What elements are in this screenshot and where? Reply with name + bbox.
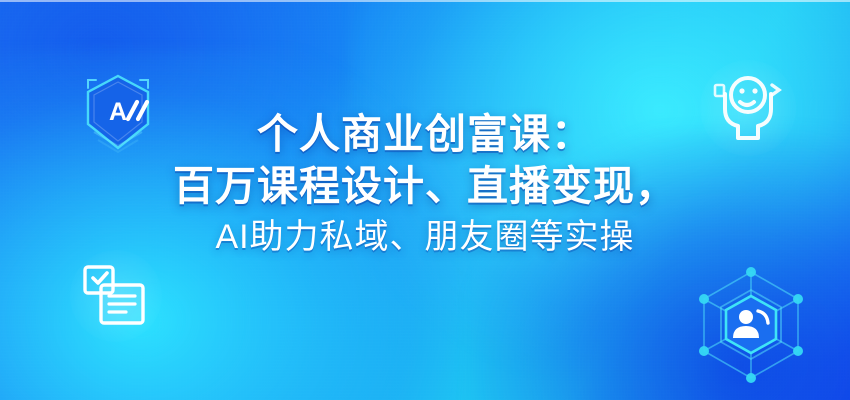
- headline-line-3: AI助力私域、朋友圈等实操: [0, 212, 850, 262]
- course-promo-banner: A: [0, 0, 850, 400]
- headline-line-2: 百万课程设计、直播变现，: [0, 160, 850, 212]
- top-edge-divider: [0, 0, 850, 2]
- headline-line-1: 个人商业创富课：: [0, 108, 850, 160]
- private-domain-network-icon: [688, 262, 814, 388]
- headline-block: 个人商业创富课： 百万课程设计、直播变现， AI助力私域、朋友圈等实操: [0, 108, 850, 262]
